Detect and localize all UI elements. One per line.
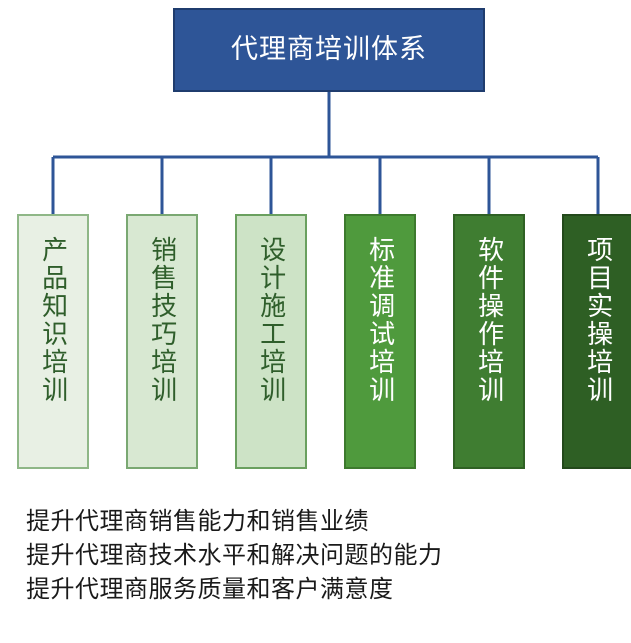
leaf-node-4: 标准调试培训 [344, 214, 416, 469]
leaf-node-3-label: 设计施工培训 [254, 236, 287, 404]
leaf-node-6-label: 项目实操培训 [581, 236, 614, 404]
root-node-label: 代理商培训体系 [231, 35, 427, 65]
note-line-3: 提升代理商服务质量和客户满意度 [26, 573, 606, 607]
leaf-node-5-label: 软件操作培训 [472, 236, 505, 404]
leaf-node-2-label: 销售技巧培训 [145, 236, 178, 404]
leaf-node-1: 产品知识培训 [17, 214, 89, 469]
notes-block: 提升代理商销售能力和销售业绩 提升代理商技术水平和解决问题的能力 提升代理商服务… [26, 505, 606, 607]
leaf-node-2: 销售技巧培训 [126, 214, 198, 469]
root-node: 代理商培训体系 [173, 8, 485, 92]
leaf-node-4-label: 标准调试培训 [363, 236, 396, 404]
diagram-canvas: 代理商培训体系 产品知识培训 销售技巧培训 设计施工培训 标准调试培训 软件操作… [0, 0, 631, 643]
leaf-node-3: 设计施工培训 [235, 214, 307, 469]
note-line-1: 提升代理商销售能力和销售业绩 [26, 505, 606, 539]
leaf-node-5: 软件操作培训 [453, 214, 525, 469]
leaf-node-1-label: 产品知识培训 [36, 236, 69, 404]
note-line-2: 提升代理商技术水平和解决问题的能力 [26, 539, 606, 573]
leaf-node-6: 项目实操培训 [562, 214, 631, 469]
